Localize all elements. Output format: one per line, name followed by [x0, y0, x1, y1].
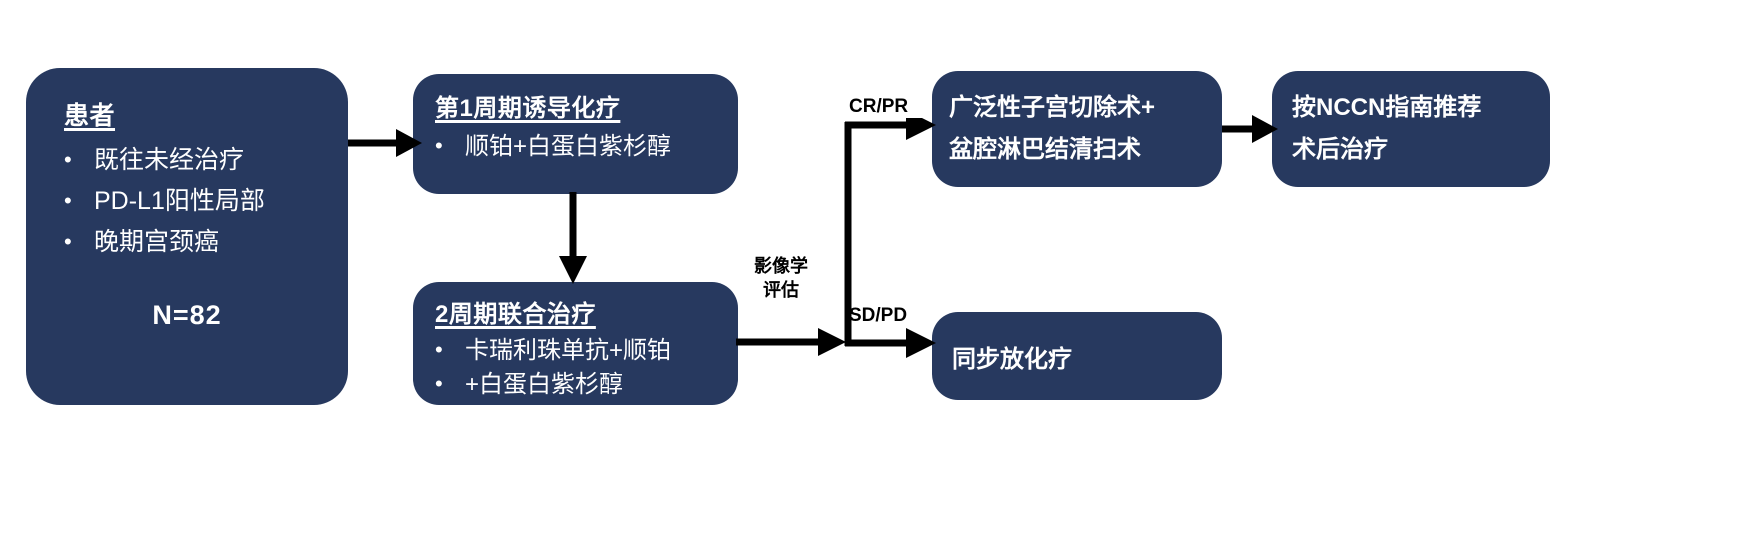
node-radical-surgery-text: 广泛性子宫切除术+ 盆腔淋巴结清扫术: [949, 87, 1211, 171]
node-induction-chemo[interactable]: 第1周期诱导化疗 顺铂+白蛋白紫杉醇: [413, 74, 738, 194]
list-item: 既往未经治疗: [58, 140, 328, 181]
edge-label-cr-pr: CR/PR: [849, 96, 908, 118]
edge-label-assessment-line2: 评估: [746, 278, 816, 302]
arrow-induction-to-combination: [548, 192, 598, 286]
node-radical-surgery[interactable]: 广泛性子宫切除术+ 盆腔淋巴结清扫术: [932, 71, 1222, 187]
node-nccn-adjuvant-text: 按NCCN指南推荐 术后治疗: [1292, 87, 1540, 171]
edge-label-sd-pd: SD/PD: [849, 305, 907, 327]
node-patients-bullets: 既往未经治疗 PD-L1阳性局部 晚期宫颈癌: [58, 140, 328, 263]
arrow-surgery-to-nccn: [1222, 104, 1278, 154]
node-concurrent-chemoradiotherapy[interactable]: 同步放化疗: [932, 312, 1222, 400]
flowchart-canvas: 患者 既往未经治疗 PD-L1阳性局部 晚期宫颈癌 N=82 第1周期诱导化疗 …: [0, 0, 1738, 537]
node-nccn-adjuvant-line2: 术后治疗: [1292, 129, 1540, 171]
list-item-continuation: 晚期宫颈癌: [58, 222, 328, 263]
node-induction-bullets: 顺铂+白蛋白紫杉醇: [429, 130, 729, 164]
branch-splitter: [840, 118, 940, 368]
node-ccrt-line1: 同步放化疗: [952, 339, 1072, 374]
node-radical-surgery-line2: 盆腔淋巴结清扫术: [949, 129, 1211, 171]
node-combination-title: 2周期联合治疗: [435, 294, 596, 329]
edge-label-assessment: 影像学 评估: [746, 254, 816, 302]
node-combination-therapy[interactable]: 2周期联合治疗 卡瑞利珠单抗+顺铂 +白蛋白紫杉醇: [413, 282, 738, 405]
node-induction-title: 第1周期诱导化疗: [435, 88, 620, 123]
node-concurrent-chemoradiotherapy-text: 同步放化疗: [952, 312, 1202, 400]
node-combination-bullets: 卡瑞利珠单抗+顺铂 +白蛋白紫杉醇: [429, 334, 734, 402]
node-nccn-adjuvant[interactable]: 按NCCN指南推荐 术后治疗: [1272, 71, 1550, 187]
list-item: PD-L1阳性局部: [58, 181, 328, 222]
node-patients-title: 患者: [64, 96, 115, 132]
arrow-combination-to-assessment: [736, 320, 846, 364]
list-item-continuation: +白蛋白紫杉醇: [429, 368, 734, 402]
node-radical-surgery-line1: 广泛性子宫切除术+: [949, 87, 1211, 129]
node-patients[interactable]: 患者 既往未经治疗 PD-L1阳性局部 晚期宫颈癌 N=82: [26, 68, 348, 405]
edge-label-assessment-line1: 影像学: [746, 254, 816, 278]
node-nccn-adjuvant-line1: 按NCCN指南推荐: [1292, 87, 1540, 129]
list-item: 顺铂+白蛋白紫杉醇: [429, 130, 729, 164]
list-item: 卡瑞利珠单抗+顺铂: [429, 334, 734, 368]
arrow-patients-to-induction: [348, 118, 422, 168]
node-patients-count: N=82: [26, 300, 348, 331]
